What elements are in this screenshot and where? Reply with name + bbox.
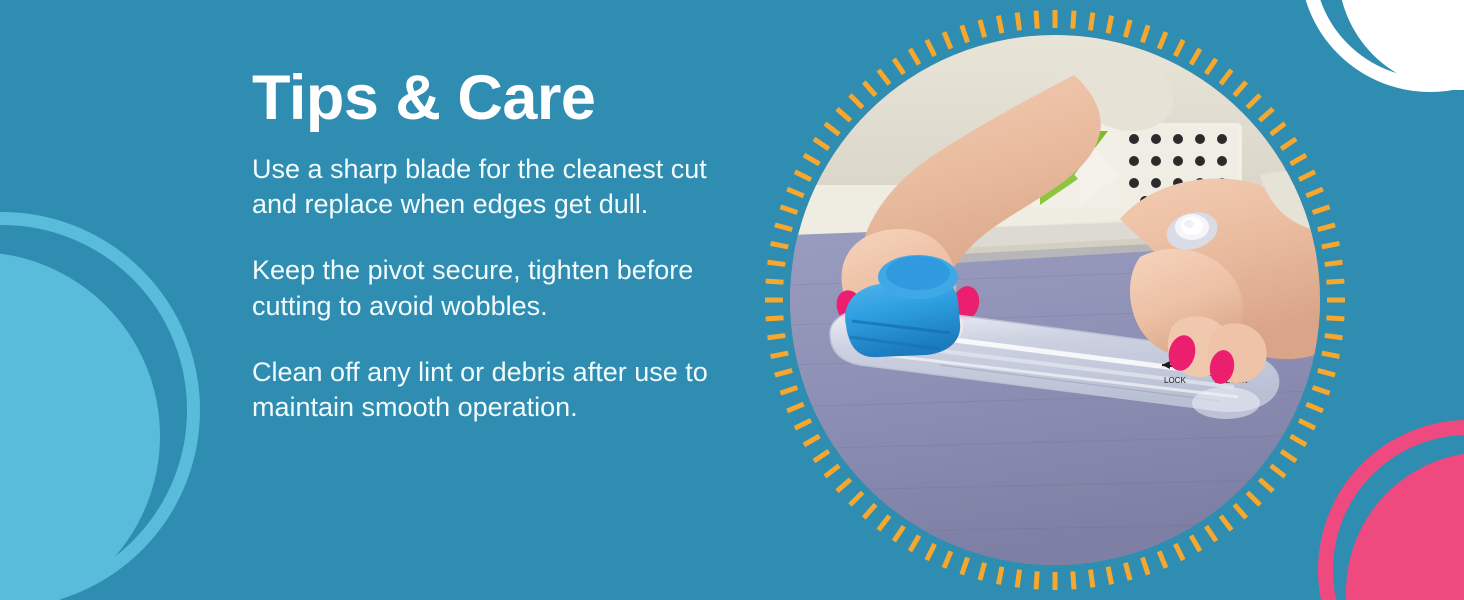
lock-label: LOCK	[1164, 376, 1186, 385]
photo-illustration: LOCK UNLOCK	[790, 35, 1320, 565]
tip-item-1: Use a sharp blade for the cleanest cut a…	[252, 152, 732, 222]
tips-and-care-banner: Tips & Care Use a sharp blade for the cl…	[0, 0, 1464, 600]
product-photo: LOCK UNLOCK	[790, 35, 1320, 565]
tip-item-3: Clean off any lint or debris after use t…	[252, 355, 732, 425]
tip-item-2: Keep the pivot secure, tighten before cu…	[252, 253, 732, 323]
photo-medallion: LOCK UNLOCK	[765, 10, 1345, 590]
page-title: Tips & Care	[252, 66, 732, 130]
text-column: Tips & Care Use a sharp blade for the cl…	[252, 66, 732, 425]
